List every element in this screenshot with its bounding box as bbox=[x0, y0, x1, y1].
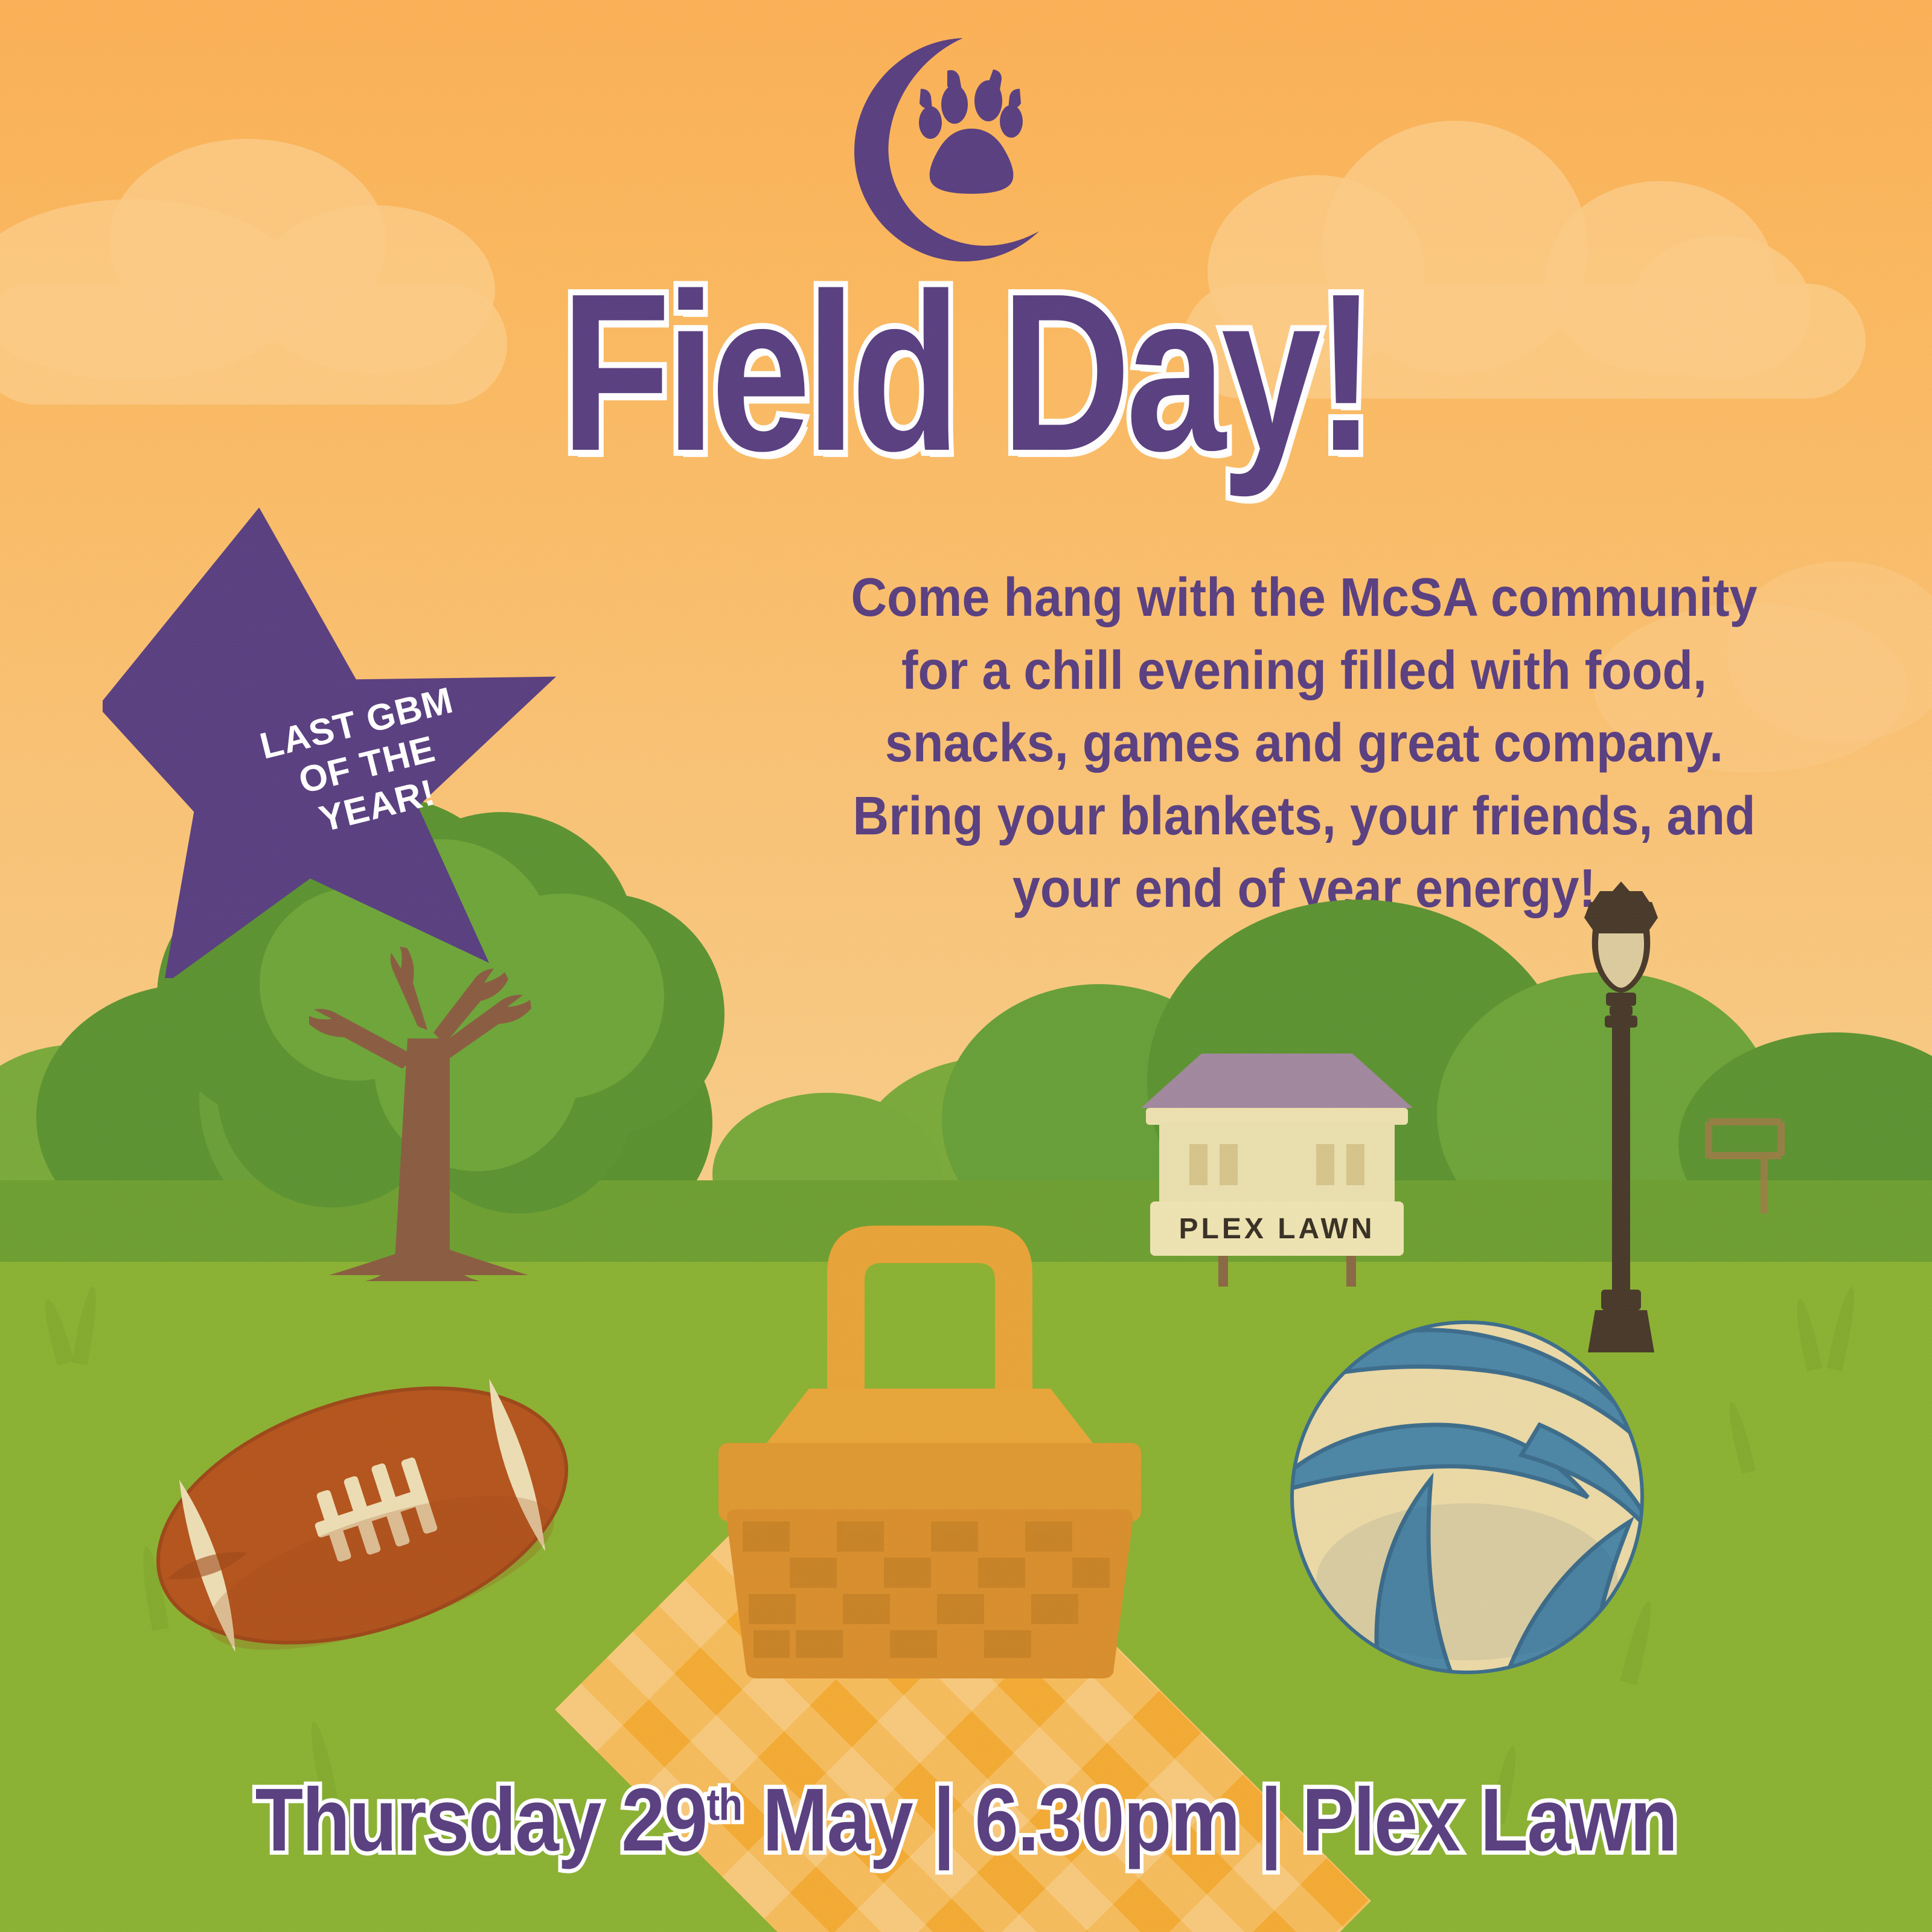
footer-date-suffix: th bbox=[706, 1780, 741, 1830]
american-football bbox=[139, 1346, 586, 1684]
volleyball-illustration bbox=[1286, 1316, 1648, 1678]
poster-canvas: Field Day! Come hang with the McSA commu… bbox=[0, 0, 1932, 1932]
crescent-moon-icon bbox=[812, 33, 1054, 263]
grass-blade bbox=[72, 1285, 101, 1366]
footer-day: Thursday bbox=[255, 1770, 601, 1870]
picnic-basket bbox=[676, 1159, 1183, 1678]
football-illustration bbox=[139, 1346, 586, 1684]
plex-lawn-sign-label: PLEX LAWN bbox=[1179, 1212, 1375, 1246]
footer-separator-1: | bbox=[933, 1770, 954, 1870]
grass-blade bbox=[1827, 1285, 1860, 1371]
page-title: Field Day! bbox=[193, 266, 1739, 479]
building-window bbox=[1316, 1144, 1334, 1185]
sign-post-left bbox=[1218, 1253, 1228, 1287]
picnic-basket-illustration bbox=[676, 1159, 1183, 1678]
footer-location: Plex Lawn bbox=[1302, 1770, 1677, 1870]
building-window bbox=[1189, 1144, 1207, 1185]
building-roof bbox=[1141, 1054, 1413, 1108]
star-badge: LAST GBM OF THE YEAR! bbox=[103, 501, 561, 978]
footer-month: May bbox=[763, 1770, 912, 1870]
building-window bbox=[1220, 1144, 1238, 1185]
footer-date-number: 29 bbox=[621, 1770, 706, 1870]
background-swing-set bbox=[1697, 1117, 1817, 1226]
mcsa-logo bbox=[812, 33, 1054, 263]
footer-time: 6.30pm bbox=[974, 1770, 1239, 1870]
grass-blade bbox=[1792, 1297, 1822, 1372]
event-details-banner: Thursday 29th May | 6.30pm | Plex Lawn bbox=[116, 1769, 1816, 1872]
paw-print-icon bbox=[919, 69, 1023, 194]
sign-post-right bbox=[1346, 1253, 1356, 1287]
street-lamp bbox=[1564, 881, 1678, 1358]
grass-blade bbox=[1724, 1400, 1756, 1474]
plex-lawn-sign: PLEX LAWN bbox=[1150, 1201, 1404, 1256]
building-window bbox=[1346, 1144, 1364, 1185]
footer-separator-2: | bbox=[1260, 1770, 1281, 1870]
street-lamp-illustration bbox=[1564, 881, 1678, 1358]
volleyball bbox=[1286, 1316, 1648, 1678]
building-eave bbox=[1146, 1108, 1408, 1125]
grass-blade bbox=[39, 1297, 74, 1365]
basket-lid-top bbox=[767, 1389, 1093, 1443]
